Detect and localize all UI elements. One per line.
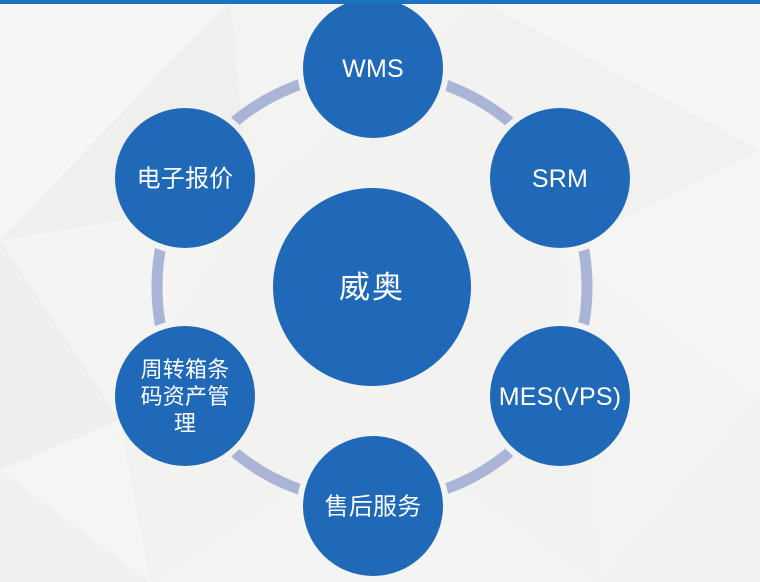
node-center[interactable] — [273, 188, 471, 386]
top-accent-bar — [0, 0, 760, 4]
node-mes[interactable] — [490, 326, 630, 466]
node-after-sales[interactable] — [303, 436, 443, 576]
node-turnover-box[interactable] — [115, 326, 255, 466]
node-wms[interactable] — [303, 0, 443, 138]
diagram-canvas: 威奥 WMS SRM MES(VPS) 售后服务 周转箱条 码资产管 理 电子报… — [0, 0, 760, 582]
node-e-quote[interactable] — [115, 108, 255, 248]
node-srm[interactable] — [490, 108, 630, 248]
